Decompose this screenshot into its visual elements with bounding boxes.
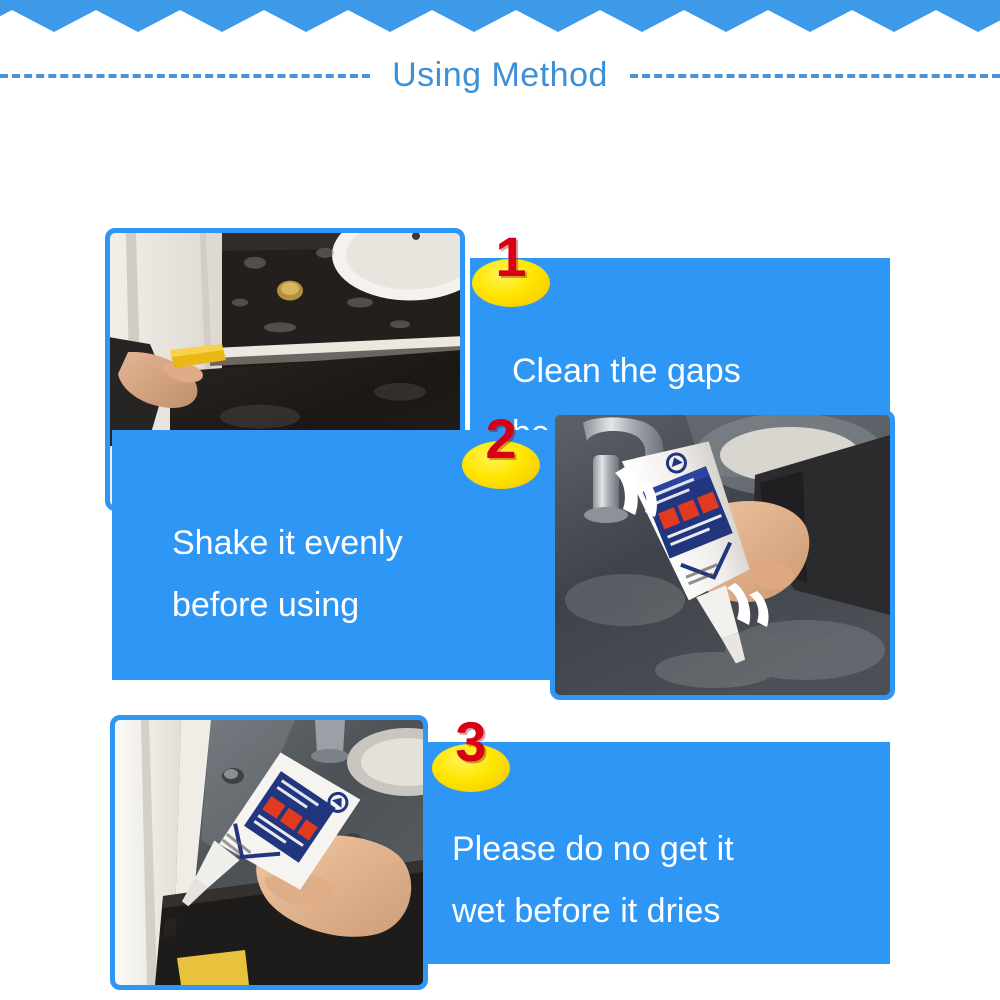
hand-applying-sealant-to-gap-photo: [115, 720, 423, 985]
step-3-caption: Please do no get it wet before it dries: [452, 818, 734, 942]
step-3-number-badge: 3: [432, 718, 510, 792]
step-3-caption-line-2: wet before it dries: [452, 880, 734, 942]
step-3-caption-line-1: Please do no get it: [452, 818, 734, 880]
step-3-number: 3: [432, 714, 510, 770]
step-3-photo-frame: [110, 715, 428, 990]
photo-illustration-icon: [115, 720, 423, 985]
step-3: 3 Please do no get it wet before it drie…: [0, 0, 1000, 1000]
